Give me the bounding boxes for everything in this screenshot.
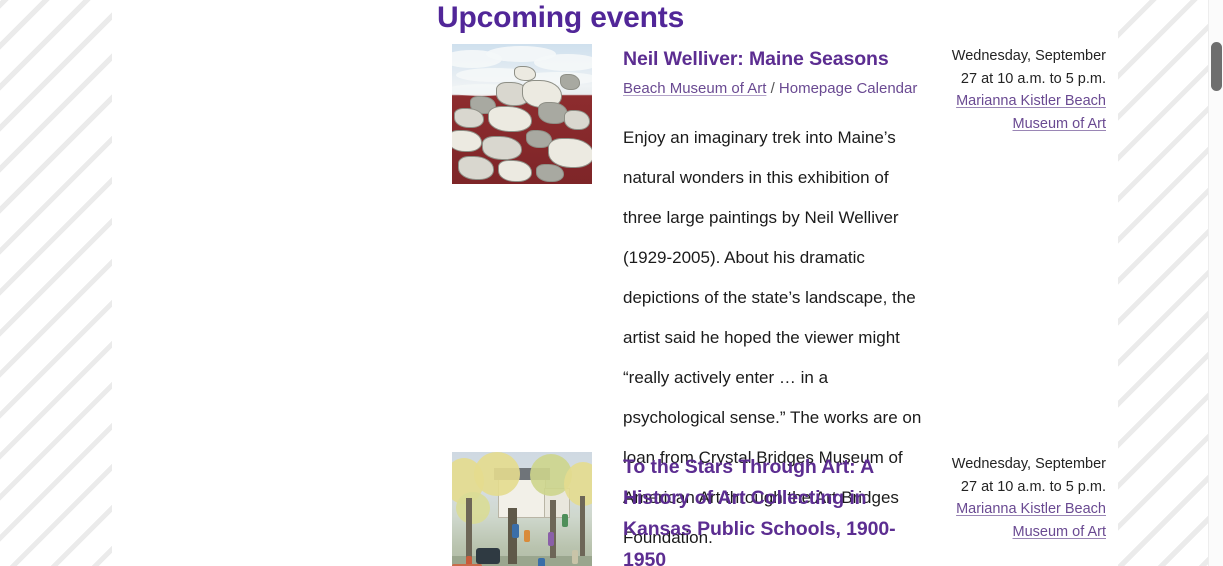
breadcrumb-separator: / (771, 80, 775, 97)
event-title-link[interactable]: To the Stars Through Art: A History of A… (623, 456, 895, 566)
event-venue-link[interactable]: Marianna Kistler Beach Museum of Art (941, 90, 1106, 135)
event-title-link[interactable]: Neil Welliver: Maine Seasons (623, 48, 889, 70)
breadcrumb-calendar: Homepage Calendar (779, 80, 917, 97)
event-thumbnail-wrapper[interactable] (452, 452, 592, 566)
event-list-item[interactable]: To the Stars Through Art: A History of A… (112, 452, 1118, 566)
page-background: Upcoming events (0, 0, 1223, 566)
event-meta-column: Wednesday, September 27 at 10 a.m. to 5 … (923, 452, 1118, 543)
event-meta-column: Wednesday, September 27 at 10 a.m. to 5 … (923, 44, 1118, 135)
page-title: Upcoming events (437, 1, 684, 35)
event-date: Wednesday, September 27 at 10 a.m. to 5 … (952, 48, 1106, 87)
content-panel: Upcoming events (112, 0, 1118, 566)
event-thumbnail-wrapper[interactable] (452, 44, 592, 184)
event-venue-link[interactable]: Marianna Kistler Beach Museum of Art (941, 498, 1106, 543)
event-thumbnail-image[interactable] (452, 452, 592, 566)
event-main-column: To the Stars Through Art: A History of A… (623, 452, 923, 566)
event-thumbnail-image[interactable] (452, 44, 592, 184)
vertical-scrollbar-thumb[interactable] (1211, 42, 1222, 91)
event-date: Wednesday, September 27 at 10 a.m. to 5 … (952, 456, 1106, 495)
breadcrumb-link-museum[interactable]: Beach Museum of Art (623, 80, 766, 97)
vertical-scrollbar-track[interactable] (1208, 0, 1223, 566)
event-breadcrumb: Beach Museum of Art / Homepage Calendar (623, 79, 923, 99)
